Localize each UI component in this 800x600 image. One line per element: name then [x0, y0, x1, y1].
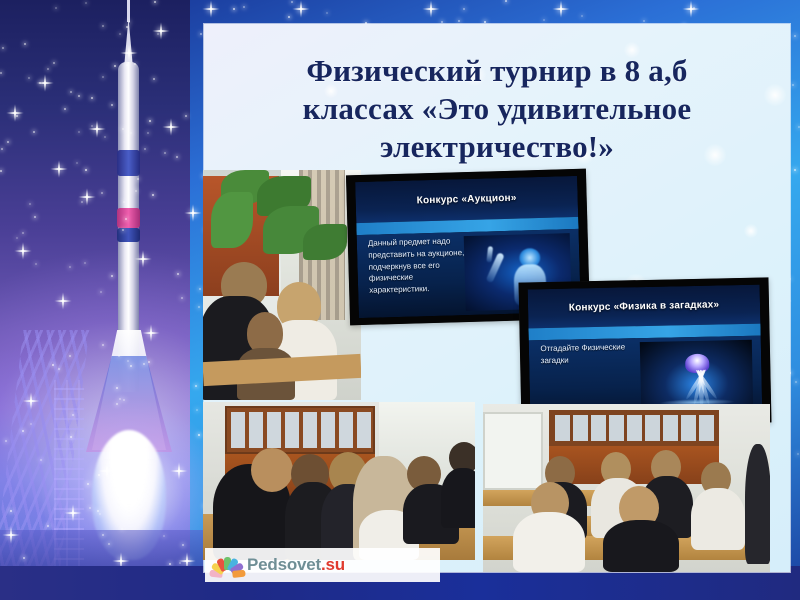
bookshelf	[225, 406, 375, 454]
star-dot	[143, 363, 145, 365]
sparkle-star	[160, 30, 162, 32]
sparkle-star	[62, 300, 64, 302]
sparkle-star	[30, 400, 32, 402]
star-dot	[119, 398, 121, 400]
star-dot	[441, 21, 443, 23]
sparkle-star	[14, 112, 16, 114]
star-dot	[22, 232, 24, 234]
star-dot	[102, 25, 104, 27]
sparkle-star	[120, 560, 122, 562]
star-dot	[123, 399, 125, 401]
sparkle-star	[86, 196, 88, 198]
star-dot	[152, 194, 154, 196]
student-figure-side	[745, 444, 770, 564]
star-dot	[85, 2, 87, 4]
star-dot	[69, 355, 71, 357]
star-dot	[463, 8, 465, 10]
watermark-text-primary: Pedsovet	[247, 555, 321, 574]
sparkle-star	[72, 512, 74, 514]
star-dot	[144, 148, 146, 150]
figure-hand	[486, 246, 493, 263]
logo-hand-petal	[232, 570, 246, 578]
star-dot	[34, 216, 36, 218]
screen-slide-text: Отгадайте Физические загадки	[540, 341, 643, 366]
star-dot	[76, 162, 78, 164]
star-dot	[102, 344, 104, 346]
star-dot	[16, 237, 18, 239]
sparkle-star	[96, 128, 98, 130]
star-dot	[128, 21, 130, 23]
star-dot	[130, 132, 132, 134]
presentation-slide: Физический турнир в 8 а,б классах «Это у…	[0, 0, 800, 600]
star-dot	[78, 131, 80, 133]
student-figure	[441, 468, 475, 528]
star-dot	[30, 423, 32, 425]
star-dot	[102, 534, 104, 536]
rocket-band-navy	[117, 228, 140, 242]
sparkle-star	[300, 8, 302, 10]
sparkle-star	[430, 8, 432, 10]
photo-students-smiling	[483, 404, 770, 572]
star-dot	[35, 263, 37, 265]
star-dot	[118, 443, 120, 445]
star-dot	[164, 152, 166, 154]
star-dot	[122, 128, 124, 130]
star-dot	[111, 275, 113, 277]
star-dot	[169, 563, 171, 565]
plant-leaf	[303, 224, 347, 260]
star-dot	[98, 474, 100, 476]
sparkle-star	[560, 8, 562, 10]
star-dot	[153, 78, 155, 80]
photo-students-window	[203, 170, 361, 400]
star-dot	[118, 355, 120, 357]
star-dot	[121, 528, 123, 530]
star-dot	[33, 131, 35, 133]
star-dot	[91, 125, 93, 127]
star-dot	[126, 64, 128, 66]
photo-students-desk	[203, 402, 475, 560]
star-dot	[78, 95, 80, 97]
star-dot	[794, 169, 796, 171]
star-dot	[89, 507, 91, 509]
star-dot	[64, 108, 66, 110]
screen-slide-image-plasma	[640, 340, 753, 414]
star-dot	[39, 82, 41, 84]
wooden-cabinet	[549, 446, 719, 484]
screen-slide-title: Конкурс «Аукцион»	[417, 193, 517, 207]
sparkle-star	[186, 560, 188, 562]
star-dot	[125, 218, 127, 220]
star-dot	[122, 229, 124, 231]
panel-sparkle	[744, 224, 758, 238]
star-dot	[135, 190, 137, 192]
star-dot	[126, 26, 128, 28]
star-dot	[233, 8, 235, 10]
star-dot	[163, 535, 165, 537]
star-dot	[114, 65, 116, 67]
sparkle-star	[150, 332, 152, 334]
sparkle-star	[170, 126, 172, 128]
star-dot	[795, 381, 797, 383]
star-dot	[87, 483, 89, 485]
screen-slide-header: Конкурс «Физика в загадках»	[528, 285, 761, 329]
star-dot	[97, 510, 99, 512]
student-body-white	[691, 488, 745, 550]
star-dot	[326, 12, 328, 14]
rocket-launch-illustration	[0, 0, 205, 600]
star-dot	[177, 273, 179, 275]
star-dot	[10, 510, 12, 512]
star-dot	[797, 453, 799, 455]
star-dot	[70, 436, 72, 438]
star-dot	[198, 306, 200, 308]
star-dot	[176, 156, 178, 158]
tv-screen: Конкурс «Физика в загадках» Отгадайте Фи…	[528, 285, 763, 421]
star-dot	[99, 513, 101, 515]
star-dot	[72, 414, 74, 416]
star-dot	[505, 0, 507, 2]
sparkle-star	[58, 168, 60, 170]
star-dot	[200, 33, 202, 35]
bookshelf	[549, 410, 719, 446]
watermark-text-suffix: .su	[321, 555, 345, 574]
star-dot	[0, 170, 2, 172]
star-dot	[5, 440, 7, 442]
colored-hands-flower-logo	[213, 552, 241, 578]
star-dot	[195, 385, 197, 387]
sparkle-star	[142, 258, 144, 260]
star-dot	[291, 1, 293, 3]
star-dot	[198, 434, 200, 436]
watermark: Pedsovet.su	[205, 548, 440, 582]
title-line-3: электричество!»	[206, 128, 788, 166]
star-dot	[2, 47, 4, 49]
screen-slide-header: Конкурс «Аукцион»	[355, 176, 578, 223]
star-dot	[458, 20, 460, 22]
star-dot	[91, 97, 93, 99]
star-dot	[137, 178, 139, 180]
star-dot	[85, 169, 87, 171]
star-dot	[693, 7, 695, 9]
star-dot	[154, 1, 156, 3]
page-title: Физический турнир в 8 а,б классах «Это у…	[206, 52, 788, 165]
star-dot	[196, 409, 198, 411]
watermark-text: Pedsovet.su	[247, 555, 345, 575]
star-dot	[794, 35, 796, 37]
sparkle-star	[22, 250, 24, 252]
screen-slide-title: Конкурс «Физика в загадках»	[569, 300, 720, 314]
star-dot	[16, 115, 18, 117]
star-dot	[149, 120, 151, 122]
star-dot	[181, 297, 183, 299]
rocket-band-blue	[117, 150, 140, 176]
star-dot	[123, 201, 125, 203]
sparkle-star	[106, 470, 108, 472]
rocket-band-pink	[117, 208, 140, 228]
star-dot	[81, 201, 83, 203]
star-dot	[52, 364, 54, 366]
star-dot	[7, 141, 9, 143]
wall-poster	[483, 412, 543, 490]
star-dot	[119, 33, 121, 35]
star-dot	[543, 19, 545, 21]
star-dot	[22, 430, 24, 432]
title-line-2: классах «Это удивительное	[206, 90, 788, 128]
star-dot	[104, 136, 106, 138]
star-dot	[111, 104, 113, 106]
star-dot	[23, 557, 25, 559]
star-dot	[581, 15, 583, 17]
star-dot	[100, 291, 102, 293]
star-dot	[108, 543, 110, 545]
star-dot	[157, 33, 159, 35]
star-dot	[69, 266, 71, 268]
sparkle-star	[210, 8, 212, 10]
star-dot	[147, 132, 149, 134]
star-dot	[643, 20, 645, 22]
star-dot	[130, 365, 132, 367]
star-dot	[185, 115, 187, 117]
star-dot	[182, 544, 184, 546]
star-dot	[288, 16, 290, 18]
star-dot	[53, 62, 55, 64]
star-dot	[1, 148, 3, 150]
star-dot	[47, 68, 49, 70]
star-dot	[179, 562, 181, 564]
student-figure	[603, 520, 679, 572]
star-dot	[148, 361, 150, 363]
star-dot	[792, 84, 794, 86]
star-dot	[102, 76, 104, 78]
star-dot	[29, 203, 31, 205]
star-dot	[58, 368, 60, 370]
title-line-1: Физический турнир в 8 а,б	[206, 52, 788, 90]
star-dot	[199, 288, 201, 290]
student-body-white	[513, 512, 585, 572]
star-dot	[70, 91, 72, 93]
star-dot	[55, 7, 57, 9]
star-dot	[0, 72, 2, 74]
sparkle-star	[128, 52, 130, 54]
star-dot	[24, 43, 26, 45]
plant-leaf	[211, 192, 253, 248]
star-dot	[47, 525, 49, 527]
star-dot	[101, 192, 103, 194]
star-dot	[116, 387, 118, 389]
star-dot	[140, 452, 142, 454]
student-head	[251, 448, 293, 492]
sparkle-star	[178, 470, 180, 472]
star-dot	[84, 262, 86, 264]
star-dot	[484, 21, 486, 23]
star-dot	[134, 63, 136, 65]
screen-slide-text: Данный предмет надо представить на аукци…	[368, 235, 467, 296]
star-dot	[243, 6, 245, 8]
sparkle-star	[192, 212, 194, 214]
star-dot	[40, 459, 42, 461]
sparkle-star	[690, 8, 692, 10]
star-dot	[28, 77, 30, 79]
star-dot	[127, 360, 129, 362]
sparkle-star	[44, 82, 46, 84]
star-dot	[116, 403, 118, 405]
sparkle-star	[10, 534, 12, 536]
